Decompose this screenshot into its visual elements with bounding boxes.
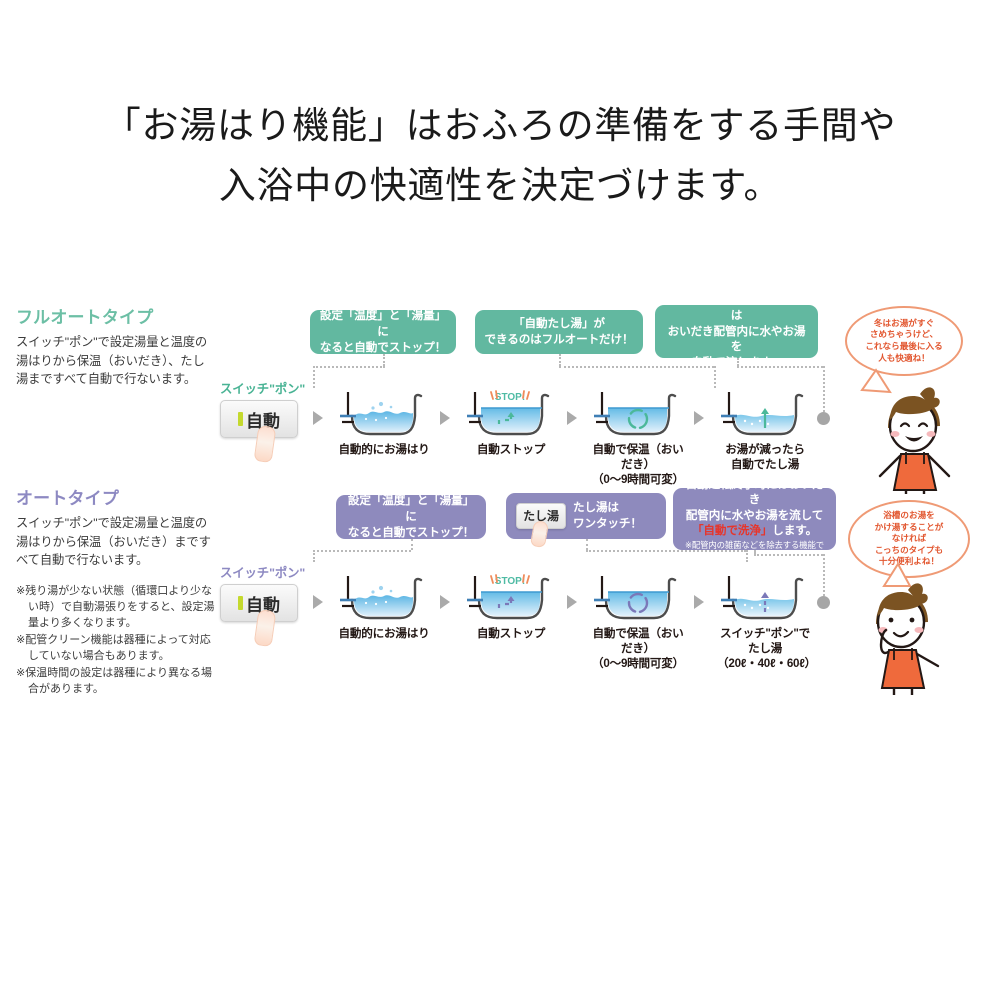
connector-dot: [714, 366, 716, 388]
sidebar-auto-notes: ※残り湯が少ない状態（循環口より少ない時）で自動湯張りをすると、設定湯量より多く…: [16, 583, 216, 697]
connector-dot: [746, 550, 748, 562]
callout-text-tail: します。: [772, 524, 817, 537]
callout-auto-3: 自動運転終了時にはおいだき 配管内に水やお湯を流して 「自動で洗浄」します。 ※…: [673, 488, 836, 550]
callout-text-line-a: 自動運転終了時にはおいだき: [681, 477, 828, 507]
flow-arrow-icon: [694, 411, 704, 425]
step-caption: お湯が減ったら自動でたし湯: [717, 443, 813, 473]
sidebar-note: ※保温時間の設定は器種により異なる場合があります。: [16, 665, 216, 697]
sidebar-note: ※残り湯が少ない状態（循環口より少ない時）で自動湯張りをすると、設定湯量より多く…: [16, 583, 216, 631]
sidebar-full-auto-title: フルオートタイプ: [16, 303, 216, 328]
step-full-auto-3: 自動で保温（おいだき）（0〜9時間可変）: [590, 386, 686, 487]
step-auto-3: 自動で保温（おいだき）（0〜9時間可変）: [590, 570, 686, 671]
callout-auto-2: たし湯 たし湯はワンタッチ！: [506, 493, 666, 539]
connector-dot: [737, 366, 823, 368]
connector-dot: [313, 550, 315, 562]
connector-dot: [559, 354, 561, 366]
callout-text-line-c: 「自動で洗浄」します。: [692, 523, 817, 538]
connector-dot: [559, 366, 714, 368]
callout-full-auto-2: 「自動たし湯」ができるのはフルオートだけ！: [475, 310, 643, 354]
finger-icon: [254, 425, 277, 463]
step-caption: 自動ストップ: [463, 627, 559, 642]
sidebar-full-auto-body: スイッチ"ポン"で設定湯量と温度の湯はりから保温（おいだき）、たし湯まですべて自…: [16, 333, 216, 389]
connector-dot: [313, 366, 315, 388]
flow-arrow-icon: [313, 595, 323, 609]
sidebar-full-auto: フルオートタイプ スイッチ"ポン"で設定湯量と温度の湯はりから保温（おいだき）、…: [16, 303, 216, 389]
bathtub-manual-refill-icon: [717, 570, 813, 624]
flow-end-dot: [817, 412, 830, 425]
headline-line-1: 「お湯はり機能」はおふろの準備をする手間や: [104, 104, 897, 147]
highlight-text: 「自動で洗浄」: [692, 524, 772, 537]
stop-badge: STOP!: [495, 392, 525, 403]
switch-auto: スイッチ"ポン" 自動: [220, 563, 305, 622]
flow-end-dot: [817, 596, 830, 609]
led-indicator-icon: [238, 596, 243, 610]
step-caption: 自動で保温（おいだき）（0〜9時間可変）: [590, 627, 686, 671]
connector-dot: [737, 358, 739, 366]
step-full-auto-1: 自動的にお湯はり: [336, 386, 432, 458]
finger-icon: [254, 609, 277, 647]
callout-auto-1: 設定「温度」と「湯量」になると自動でストップ！: [336, 495, 486, 539]
sidebar-note: ※配管クリーン機能は器種によって対応していない場合もあります。: [16, 632, 216, 664]
flow-arrow-icon: [313, 411, 323, 425]
connector-dot: [754, 554, 823, 556]
callout-text: 設定「温度」と「湯量」になると自動でストップ！: [318, 308, 448, 355]
bathtub-filling-icon: [336, 386, 432, 440]
bathtub-filling-icon: [336, 570, 432, 624]
step-caption: 自動的にお湯はり: [336, 627, 432, 642]
step-caption: 自動的にお湯はり: [336, 443, 432, 458]
flow-arrow-icon: [567, 411, 577, 425]
character-illustration-female-1: [856, 364, 976, 494]
bathtub-reheat-icon: [590, 386, 686, 440]
flow-arrow-icon: [440, 595, 450, 609]
step-auto-4: スイッチ"ポン"でたし湯（20ℓ・40ℓ・60ℓ）: [717, 570, 813, 671]
connector-dot: [586, 539, 588, 550]
connector-dot: [411, 539, 413, 550]
infographic-page: 「お湯はり機能」はおふろの準備をする手間や 入浴中の快適性を決定づけます。 フル…: [0, 0, 1000, 1000]
callout-full-auto-3: 配管クリーン機能排水時にはおいだき配管内に水やお湯を自動で流します。: [655, 305, 818, 358]
connector-dot: [823, 366, 825, 412]
step-caption: 自動ストップ: [463, 443, 559, 458]
callout-text: 「自動たし湯」ができるのはフルオートだけ！: [485, 316, 634, 348]
headline-line-2: 入浴中の快適性を決定づけます。: [0, 156, 1000, 216]
callout-full-auto-1: 設定「温度」と「湯量」になると自動でストップ！: [310, 310, 456, 354]
switch-label: スイッチ"ポン": [220, 563, 305, 581]
flow-arrow-icon: [440, 411, 450, 425]
bathtub-stop-icon: STOP!: [463, 386, 559, 440]
connector-dot: [586, 550, 746, 552]
step-auto-2: STOP! 自動ストップ: [463, 570, 559, 642]
character-illustration-female-2: [852, 560, 977, 695]
speech-bubble-text: 冬はお湯がすぐさめちゃうけど、これなら最後に入る人も快適ね！: [865, 318, 942, 364]
sidebar-auto: オートタイプ スイッチ"ポン"で設定湯量と温度の湯はりから保温（おいだき）まです…: [16, 484, 216, 698]
step-caption: 自動で保温（おいだき）（0〜9時間可変）: [590, 443, 686, 487]
step-full-auto-2: STOP! 自動ストップ: [463, 386, 559, 458]
sidebar-auto-body: スイッチ"ポン"で設定湯量と温度の湯はりから保温（おいだき）まですべて自動で行な…: [16, 514, 216, 570]
switch-label: スイッチ"ポン": [220, 379, 305, 397]
callout-text-line-b: 配管内に水やお湯を流して: [686, 508, 823, 523]
flow-arrow-icon: [567, 595, 577, 609]
connector-dot: [313, 366, 385, 368]
connector-dot: [383, 354, 385, 366]
callout-text: たし湯はワンタッチ！: [573, 500, 642, 532]
callout-text: 設定「温度」と「湯量」になると自動でストップ！: [344, 493, 478, 540]
step-auto-1: 自動的にお湯はり: [336, 570, 432, 642]
stop-badge: STOP!: [495, 576, 525, 587]
bathtub-reheat-icon: [590, 570, 686, 624]
connector-dot: [823, 554, 825, 596]
led-indicator-icon: [238, 412, 243, 426]
step-caption: スイッチ"ポン"でたし湯（20ℓ・40ℓ・60ℓ）: [717, 627, 813, 671]
connector-dot: [313, 550, 411, 552]
bathtub-stop-icon: STOP!: [463, 570, 559, 624]
sidebar-auto-title: オートタイプ: [16, 484, 216, 509]
flow-arrow-icon: [694, 595, 704, 609]
switch-full-auto: スイッチ"ポン" 自動: [220, 379, 305, 438]
bathtub-refill-icon: [717, 386, 813, 440]
step-full-auto-4: お湯が減ったら自動でたし湯: [717, 386, 813, 473]
page-title: 「お湯はり機能」はおふろの準備をする手間や 入浴中の快適性を決定づけます。: [0, 96, 1000, 216]
